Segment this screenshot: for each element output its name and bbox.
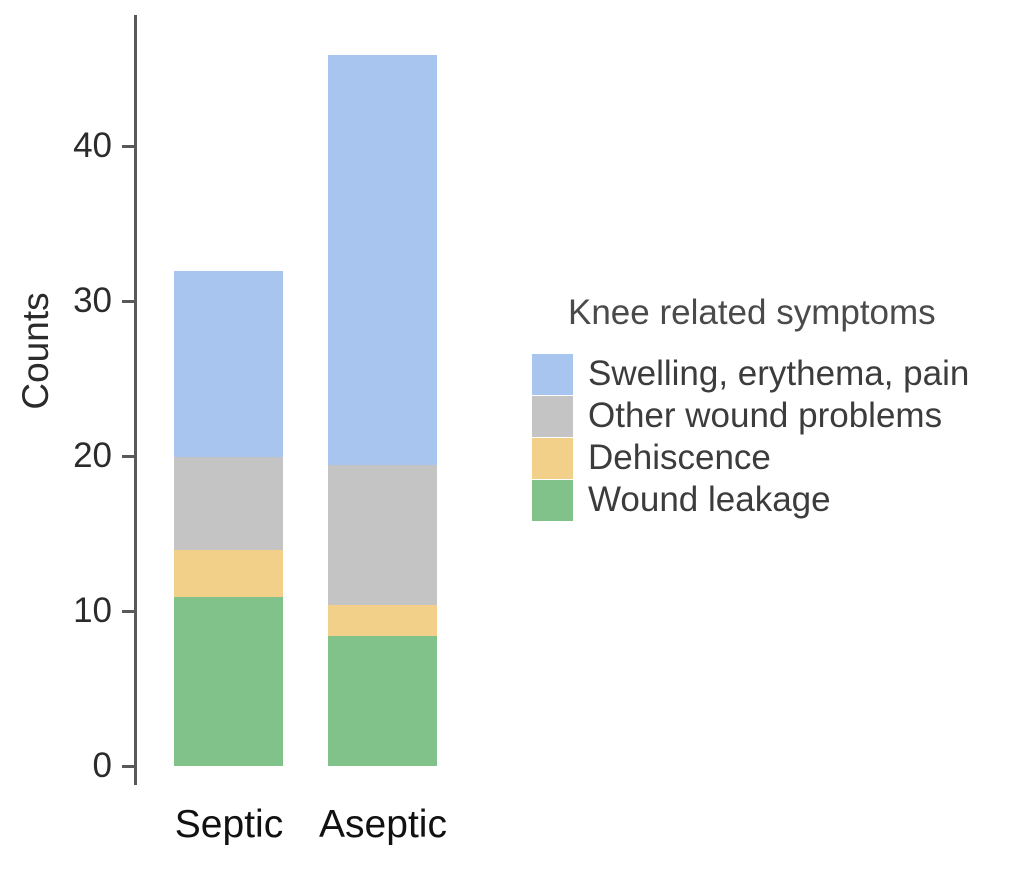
bar-segment-aseptic-dehiscence[interactable]	[328, 605, 437, 636]
bar-segment-septic-wound-leakage[interactable]	[174, 597, 283, 766]
y-axis-tick-20	[122, 455, 135, 458]
legend-label-dehiscence: Dehiscence	[588, 439, 771, 478]
x-axis-label-septic: Septic	[144, 805, 314, 844]
y-axis-tick-label-40: 40	[0, 128, 112, 163]
legend-label-other-wound: Other wound problems	[588, 397, 942, 436]
bar-group-aseptic	[328, 0, 437, 880]
legend-label-swelling: Swelling, erythema, pain	[588, 355, 969, 394]
y-axis-title: Counts	[15, 271, 57, 431]
bar-group-septic	[174, 0, 283, 880]
y-axis-tick-label-20: 20	[0, 438, 112, 473]
y-axis-tick-10	[122, 610, 135, 613]
y-axis-tick-30	[122, 300, 135, 303]
y-axis-tick-40	[122, 145, 135, 148]
legend-swatch-other-wound	[532, 396, 573, 437]
legend-swatch-swelling	[532, 354, 573, 395]
y-axis-tick-label-0: 0	[0, 748, 112, 783]
bar-segment-septic-other-wound[interactable]	[174, 457, 283, 550]
legend-title: Knee related symptoms	[568, 295, 936, 330]
x-axis-label-aseptic: Aseptic	[298, 805, 468, 844]
legend-swatch-wound-leakage	[532, 480, 573, 521]
bar-segment-septic-dehiscence[interactable]	[174, 550, 283, 597]
bar-segment-septic-swelling[interactable]	[174, 271, 283, 457]
legend-label-wound-leakage: Wound leakage	[588, 481, 831, 520]
bar-segment-aseptic-wound-leakage[interactable]	[328, 636, 437, 766]
legend-swatch-dehiscence	[532, 438, 573, 479]
y-axis-tick-0	[122, 765, 135, 768]
y-axis-tick-label-10: 10	[0, 593, 112, 628]
bar-segment-aseptic-other-wound[interactable]	[328, 465, 437, 605]
stacked-bar-chart: 0 10 20 30 40 Counts Septic Aseptic Knee…	[0, 0, 1033, 880]
y-axis-line	[134, 15, 137, 785]
bar-segment-aseptic-swelling[interactable]	[328, 55, 437, 465]
